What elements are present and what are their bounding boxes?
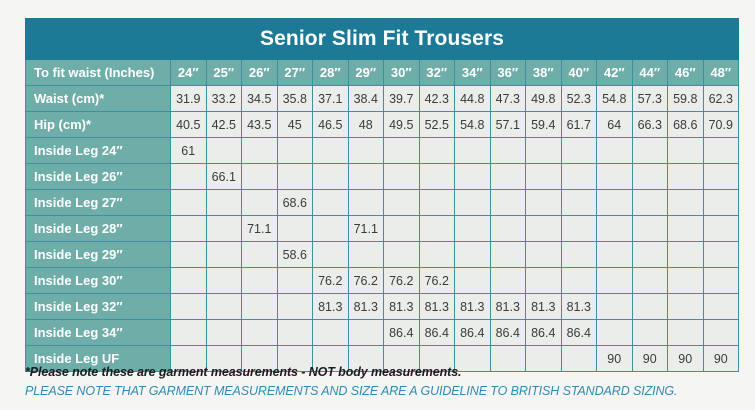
measurement-cell bbox=[668, 294, 704, 320]
measurement-cell bbox=[348, 190, 384, 216]
measurement-cell bbox=[490, 138, 526, 164]
measurement-cell: 59.4 bbox=[526, 112, 562, 138]
column-header-size: 36″ bbox=[490, 60, 526, 86]
measurement-cell bbox=[668, 320, 704, 346]
column-header-size: 46″ bbox=[668, 60, 704, 86]
measurement-cell bbox=[313, 138, 349, 164]
measurement-cell: 57.3 bbox=[632, 86, 668, 112]
measurement-cell bbox=[632, 268, 668, 294]
measurement-cell: 58.6 bbox=[277, 242, 313, 268]
measurement-cell: 48 bbox=[348, 112, 384, 138]
measurement-cell bbox=[561, 138, 597, 164]
measurement-cell: 59.8 bbox=[668, 86, 704, 112]
chart-title: Senior Slim Fit Trousers bbox=[26, 19, 739, 60]
measurement-cell bbox=[455, 190, 491, 216]
measurement-cell bbox=[171, 190, 207, 216]
measurement-cell: 71.1 bbox=[242, 216, 278, 242]
column-header-size: 29″ bbox=[348, 60, 384, 86]
page-root: Senior Slim Fit Trousers To fit waist (I… bbox=[0, 0, 755, 410]
measurement-cell bbox=[668, 268, 704, 294]
measurement-cell: 34.5 bbox=[242, 86, 278, 112]
title-row: Senior Slim Fit Trousers bbox=[26, 19, 739, 60]
measurement-cell bbox=[455, 268, 491, 294]
measurement-cell: 70.9 bbox=[703, 112, 739, 138]
measurement-cell bbox=[206, 138, 242, 164]
measurement-cell: 54.8 bbox=[455, 112, 491, 138]
measurement-cell bbox=[206, 320, 242, 346]
measurement-cell bbox=[455, 164, 491, 190]
measurement-cell: 81.3 bbox=[348, 294, 384, 320]
footnotes: *Please note these are garment measureme… bbox=[25, 365, 738, 398]
measurement-cell bbox=[490, 190, 526, 216]
measurement-cell: 81.3 bbox=[313, 294, 349, 320]
measurement-cell bbox=[242, 190, 278, 216]
measurement-cell bbox=[703, 216, 739, 242]
measurement-cell bbox=[490, 216, 526, 242]
measurement-cell bbox=[632, 320, 668, 346]
table-body: Waist (cm)*31.933.234.535.837.138.439.74… bbox=[26, 86, 739, 372]
measurement-cell: 43.5 bbox=[242, 112, 278, 138]
row-label: Inside Leg 27″ bbox=[26, 190, 171, 216]
measurement-cell bbox=[277, 294, 313, 320]
measurement-cell bbox=[703, 164, 739, 190]
measurement-cell bbox=[703, 190, 739, 216]
measurement-cell bbox=[206, 268, 242, 294]
table-row: Inside Leg 28″71.171.1 bbox=[26, 216, 739, 242]
table-row: Inside Leg 34″86.486.486.486.486.486.4 bbox=[26, 320, 739, 346]
measurement-cell: 76.2 bbox=[384, 268, 420, 294]
measurement-cell bbox=[632, 138, 668, 164]
measurement-cell bbox=[171, 242, 207, 268]
column-header-size: 30″ bbox=[384, 60, 420, 86]
table-row: Inside Leg 29″58.6 bbox=[26, 242, 739, 268]
measurement-cell bbox=[348, 164, 384, 190]
measurement-cell bbox=[668, 138, 704, 164]
column-header-size: 44″ bbox=[632, 60, 668, 86]
measurement-cell bbox=[455, 216, 491, 242]
measurement-cell bbox=[171, 216, 207, 242]
measurement-cell bbox=[419, 216, 455, 242]
measurement-cell bbox=[348, 320, 384, 346]
measurement-cell bbox=[419, 164, 455, 190]
measurement-cell bbox=[668, 216, 704, 242]
footnote-british-standard-sizing: PLEASE NOTE THAT GARMENT MEASUREMENTS AN… bbox=[25, 384, 738, 398]
measurement-cell: 49.5 bbox=[384, 112, 420, 138]
measurement-cell bbox=[171, 320, 207, 346]
measurement-cell bbox=[277, 216, 313, 242]
measurement-cell bbox=[277, 268, 313, 294]
measurement-cell bbox=[632, 216, 668, 242]
measurement-cell bbox=[242, 268, 278, 294]
measurement-cell bbox=[455, 138, 491, 164]
row-label: Inside Leg 28″ bbox=[26, 216, 171, 242]
measurement-cell bbox=[419, 138, 455, 164]
measurement-cell bbox=[419, 190, 455, 216]
measurement-cell: 66.1 bbox=[206, 164, 242, 190]
measurement-cell bbox=[632, 242, 668, 268]
measurement-cell: 57.1 bbox=[490, 112, 526, 138]
column-header-row: To fit waist (Inches) 24″25″26″27″28″29″… bbox=[26, 60, 739, 86]
measurement-cell bbox=[703, 138, 739, 164]
measurement-cell bbox=[419, 242, 455, 268]
measurement-cell: 40.5 bbox=[171, 112, 207, 138]
measurement-cell bbox=[313, 164, 349, 190]
row-label: Hip (cm)* bbox=[26, 112, 171, 138]
measurement-cell: 81.3 bbox=[384, 294, 420, 320]
measurement-cell bbox=[242, 320, 278, 346]
measurement-cell bbox=[277, 138, 313, 164]
measurement-cell: 31.9 bbox=[171, 86, 207, 112]
measurement-cell: 81.3 bbox=[561, 294, 597, 320]
measurement-cell bbox=[668, 164, 704, 190]
column-header-size: 27″ bbox=[277, 60, 313, 86]
size-chart-table: Senior Slim Fit Trousers To fit waist (I… bbox=[25, 18, 739, 372]
measurement-cell: 62.3 bbox=[703, 86, 739, 112]
measurement-cell bbox=[206, 216, 242, 242]
measurement-cell: 86.4 bbox=[419, 320, 455, 346]
measurement-cell bbox=[313, 190, 349, 216]
measurement-cell bbox=[597, 164, 633, 190]
measurement-cell bbox=[490, 164, 526, 190]
measurement-cell bbox=[171, 294, 207, 320]
row-label: Inside Leg 32″ bbox=[26, 294, 171, 320]
measurement-cell: 42.3 bbox=[419, 86, 455, 112]
measurement-cell: 42.5 bbox=[206, 112, 242, 138]
measurement-cell bbox=[668, 242, 704, 268]
column-header-label: To fit waist (Inches) bbox=[26, 60, 171, 86]
measurement-cell: 49.8 bbox=[526, 86, 562, 112]
row-label: Inside Leg 26″ bbox=[26, 164, 171, 190]
measurement-cell bbox=[206, 294, 242, 320]
measurement-cell bbox=[455, 242, 491, 268]
measurement-cell: 46.5 bbox=[313, 112, 349, 138]
measurement-cell bbox=[526, 268, 562, 294]
measurement-cell: 47.3 bbox=[490, 86, 526, 112]
size-chart: Senior Slim Fit Trousers To fit waist (I… bbox=[25, 18, 738, 372]
measurement-cell: 37.1 bbox=[313, 86, 349, 112]
measurement-cell bbox=[384, 138, 420, 164]
row-label: Inside Leg 24″ bbox=[26, 138, 171, 164]
column-header-size: 28″ bbox=[313, 60, 349, 86]
table-row: Inside Leg 27″68.6 bbox=[26, 190, 739, 216]
measurement-cell: 64 bbox=[597, 112, 633, 138]
table-head: Senior Slim Fit Trousers To fit waist (I… bbox=[26, 19, 739, 86]
measurement-cell: 33.2 bbox=[206, 86, 242, 112]
table-row: Inside Leg 30″76.276.276.276.2 bbox=[26, 268, 739, 294]
measurement-cell: 35.8 bbox=[277, 86, 313, 112]
measurement-cell: 86.4 bbox=[490, 320, 526, 346]
measurement-cell bbox=[597, 190, 633, 216]
measurement-cell: 81.3 bbox=[526, 294, 562, 320]
measurement-cell bbox=[561, 164, 597, 190]
measurement-cell: 76.2 bbox=[419, 268, 455, 294]
measurement-cell bbox=[277, 164, 313, 190]
measurement-cell bbox=[242, 138, 278, 164]
measurement-cell bbox=[348, 242, 384, 268]
measurement-cell bbox=[632, 190, 668, 216]
measurement-cell bbox=[597, 294, 633, 320]
column-header-size: 40″ bbox=[561, 60, 597, 86]
measurement-cell: 71.1 bbox=[348, 216, 384, 242]
measurement-cell: 61.7 bbox=[561, 112, 597, 138]
measurement-cell bbox=[668, 190, 704, 216]
measurement-cell bbox=[526, 164, 562, 190]
column-header-size: 42″ bbox=[597, 60, 633, 86]
measurement-cell: 68.6 bbox=[277, 190, 313, 216]
measurement-cell: 81.3 bbox=[419, 294, 455, 320]
measurement-cell: 44.8 bbox=[455, 86, 491, 112]
measurement-cell bbox=[703, 268, 739, 294]
measurement-cell bbox=[597, 320, 633, 346]
column-header-size: 48″ bbox=[703, 60, 739, 86]
measurement-cell: 68.6 bbox=[668, 112, 704, 138]
measurement-cell bbox=[384, 242, 420, 268]
measurement-cell bbox=[526, 138, 562, 164]
footnote-garment-measurements: *Please note these are garment measureme… bbox=[25, 365, 738, 379]
table-row: Inside Leg 26″66.1 bbox=[26, 164, 739, 190]
row-label: Waist (cm)* bbox=[26, 86, 171, 112]
measurement-cell bbox=[313, 216, 349, 242]
measurement-cell: 45 bbox=[277, 112, 313, 138]
measurement-cell: 76.2 bbox=[313, 268, 349, 294]
measurement-cell bbox=[526, 216, 562, 242]
measurement-cell: 38.4 bbox=[348, 86, 384, 112]
measurement-cell bbox=[242, 294, 278, 320]
measurement-cell bbox=[597, 216, 633, 242]
measurement-cell bbox=[526, 190, 562, 216]
measurement-cell bbox=[703, 294, 739, 320]
measurement-cell bbox=[171, 164, 207, 190]
measurement-cell bbox=[561, 268, 597, 294]
measurement-cell: 66.3 bbox=[632, 112, 668, 138]
column-header-size: 25″ bbox=[206, 60, 242, 86]
column-header-size: 34″ bbox=[455, 60, 491, 86]
measurement-cell bbox=[490, 242, 526, 268]
measurement-cell bbox=[313, 242, 349, 268]
measurement-cell: 61 bbox=[171, 138, 207, 164]
measurement-cell bbox=[561, 216, 597, 242]
measurement-cell bbox=[384, 164, 420, 190]
measurement-cell bbox=[561, 190, 597, 216]
measurement-cell: 54.8 bbox=[597, 86, 633, 112]
measurement-cell bbox=[597, 138, 633, 164]
row-label: Inside Leg 30″ bbox=[26, 268, 171, 294]
measurement-cell bbox=[597, 268, 633, 294]
measurement-cell: 86.4 bbox=[384, 320, 420, 346]
measurement-cell: 76.2 bbox=[348, 268, 384, 294]
measurement-cell bbox=[703, 242, 739, 268]
measurement-cell: 81.3 bbox=[455, 294, 491, 320]
table-row: Inside Leg 32″81.381.381.381.381.381.381… bbox=[26, 294, 739, 320]
table-row: Inside Leg 24″61 bbox=[26, 138, 739, 164]
measurement-cell: 86.4 bbox=[526, 320, 562, 346]
measurement-cell bbox=[526, 242, 562, 268]
row-label: Inside Leg 29″ bbox=[26, 242, 171, 268]
measurement-cell bbox=[490, 268, 526, 294]
measurement-cell: 86.4 bbox=[561, 320, 597, 346]
measurement-cell bbox=[384, 190, 420, 216]
measurement-cell bbox=[206, 242, 242, 268]
measurement-cell bbox=[242, 242, 278, 268]
column-header-size: 38″ bbox=[526, 60, 562, 86]
measurement-cell bbox=[632, 164, 668, 190]
column-header-size: 32″ bbox=[419, 60, 455, 86]
measurement-cell: 39.7 bbox=[384, 86, 420, 112]
measurement-cell: 86.4 bbox=[455, 320, 491, 346]
measurement-cell: 52.3 bbox=[561, 86, 597, 112]
measurement-cell bbox=[348, 138, 384, 164]
measurement-cell bbox=[384, 216, 420, 242]
measurement-cell bbox=[277, 320, 313, 346]
measurement-cell bbox=[171, 268, 207, 294]
measurement-cell: 81.3 bbox=[490, 294, 526, 320]
measurement-cell bbox=[313, 320, 349, 346]
table-row: Waist (cm)*31.933.234.535.837.138.439.74… bbox=[26, 86, 739, 112]
measurement-cell bbox=[206, 190, 242, 216]
measurement-cell bbox=[242, 164, 278, 190]
column-header-size: 26″ bbox=[242, 60, 278, 86]
measurement-cell bbox=[703, 320, 739, 346]
column-header-size: 24″ bbox=[171, 60, 207, 86]
table-row: Hip (cm)*40.542.543.54546.54849.552.554.… bbox=[26, 112, 739, 138]
measurement-cell bbox=[597, 242, 633, 268]
measurement-cell: 52.5 bbox=[419, 112, 455, 138]
measurement-cell bbox=[561, 242, 597, 268]
row-label: Inside Leg 34″ bbox=[26, 320, 171, 346]
measurement-cell bbox=[632, 294, 668, 320]
